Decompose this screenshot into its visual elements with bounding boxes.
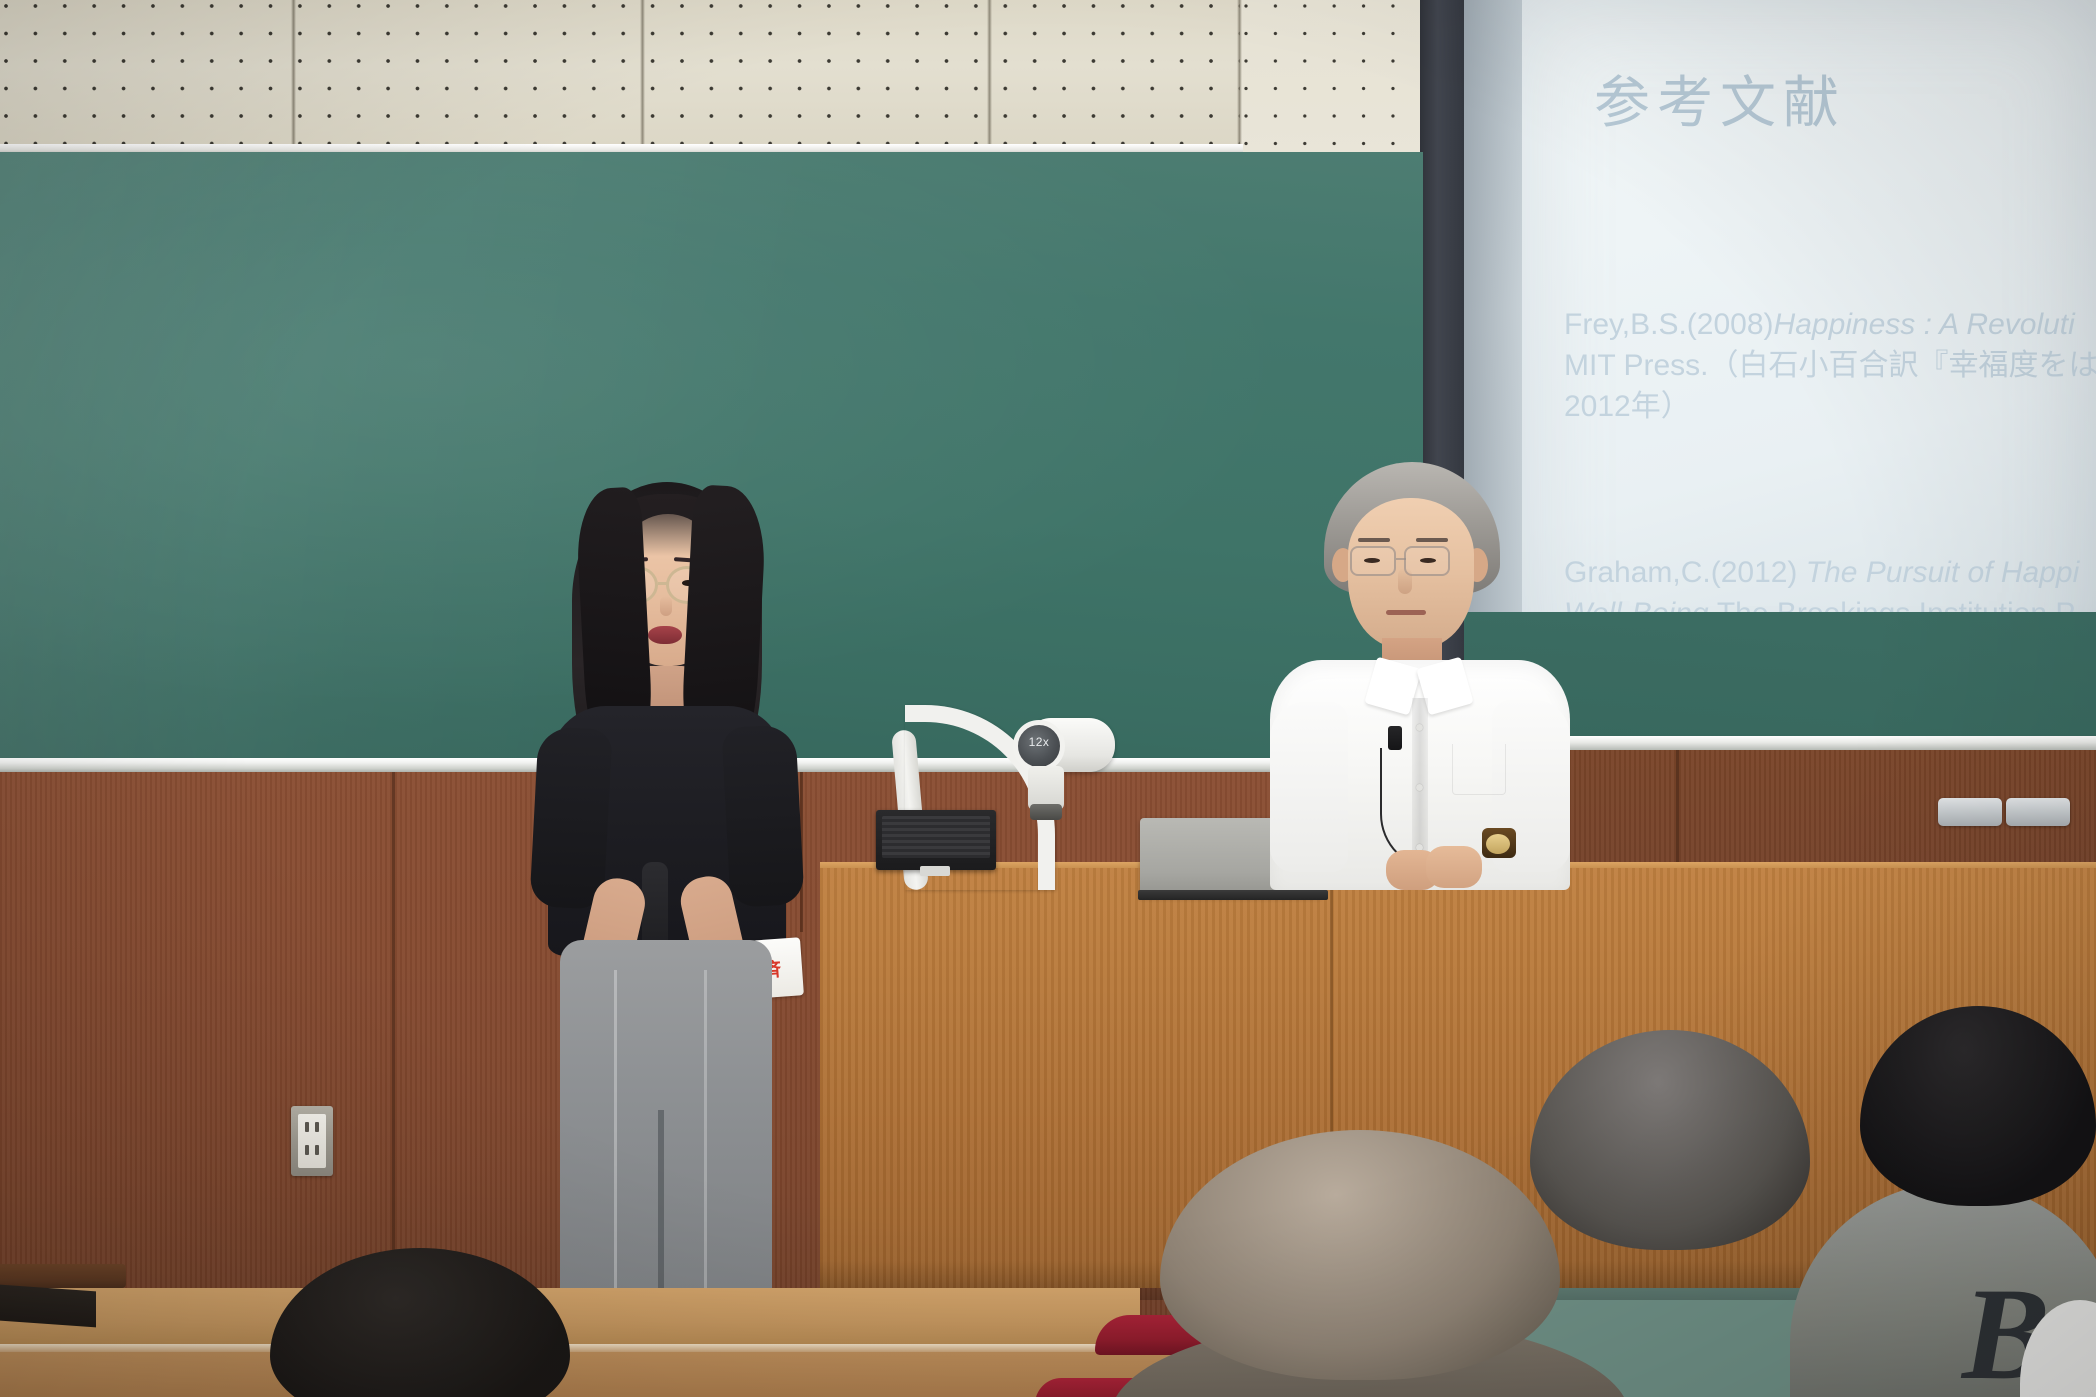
man-eye-left bbox=[1364, 558, 1380, 563]
acoustic-perforated-wall bbox=[0, 0, 1240, 146]
woman-mouth bbox=[648, 626, 682, 644]
audience-head bbox=[1160, 1130, 1560, 1380]
lavalier-microphone bbox=[1388, 726, 1402, 750]
electrical-outlet-face[interactable] bbox=[298, 1114, 326, 1168]
slide-title: 参考文献 bbox=[1594, 58, 1846, 139]
man-wristwatch-face bbox=[1486, 834, 1510, 854]
ref-frey-line1-plain: Frey,B.S.(2008) bbox=[1564, 308, 1774, 341]
laptop-hinge bbox=[1138, 890, 1328, 900]
woman-nose bbox=[660, 596, 672, 616]
trouser-crease-left bbox=[614, 970, 617, 1290]
audience-head bbox=[270, 1248, 570, 1397]
audience-head bbox=[1860, 1006, 2096, 1206]
wall-panel-seam bbox=[1237, 0, 1242, 160]
ref-frey-line2: MIT Press.（白石小百合訳『幸福度をは bbox=[1564, 349, 2096, 382]
man-eye-right bbox=[1420, 558, 1436, 563]
presenter-woman: 経済 bbox=[520, 470, 810, 1300]
man-shirt-pocket bbox=[1452, 744, 1506, 795]
audience-member bbox=[270, 1248, 570, 1397]
wall-panel-seam bbox=[291, 0, 296, 150]
woman-sleeve-left bbox=[529, 726, 612, 910]
ref-frey-line3: 2012年） bbox=[1564, 390, 1691, 423]
outlet-slot bbox=[305, 1145, 309, 1155]
document-camera-zoom-label: 12x bbox=[1021, 735, 1057, 749]
man-mouth bbox=[1386, 610, 1426, 615]
stage-floor-step bbox=[0, 1288, 1140, 1350]
man-hand-right bbox=[1426, 846, 1482, 888]
outlet-slot bbox=[305, 1122, 309, 1132]
side-desk-top bbox=[0, 1264, 126, 1288]
lecture-hall-photo: 参考文献 Frey,B.S.(2008)Happiness : A Revolu… bbox=[0, 0, 2096, 1397]
man-eyeglasses-bridge bbox=[1396, 558, 1406, 560]
outlet-slot bbox=[315, 1122, 319, 1132]
trouser-inseam bbox=[658, 1110, 664, 1300]
shirt-button bbox=[1416, 724, 1423, 731]
light-switch-panel-left[interactable] bbox=[1938, 798, 2002, 826]
document-camera-base bbox=[1030, 804, 1062, 820]
reference-entry-frey: Frey,B.S.(2008)Happiness : A Revoluti MI… bbox=[1564, 304, 2096, 427]
audience-member bbox=[1530, 1030, 1810, 1260]
woman-eyeglasses-bridge bbox=[658, 582, 668, 585]
presenter-man bbox=[1270, 462, 1570, 882]
acoustic-perforated-wall-right bbox=[1240, 0, 1420, 160]
outlet-slot bbox=[315, 1145, 319, 1155]
ref-graham-line1-plain: Graham,C.(2012) bbox=[1564, 556, 1806, 589]
ref-graham-line1-italic: The Pursuit of Happi bbox=[1806, 556, 2079, 589]
man-arm-left bbox=[1270, 702, 1348, 872]
lectern-monitor-stand bbox=[920, 866, 950, 876]
woman-sleeve-right bbox=[721, 724, 804, 908]
audience-head bbox=[1530, 1030, 1810, 1250]
trouser-crease-right bbox=[704, 970, 707, 1290]
side-desk-frame bbox=[0, 1285, 96, 1328]
audience-shoulders bbox=[2020, 1300, 2096, 1397]
man-eyebrow-right bbox=[1416, 538, 1448, 542]
projection-screen: 参考文献 Frey,B.S.(2008)Happiness : A Revolu… bbox=[1522, 0, 2096, 700]
audience-member bbox=[2020, 1300, 2096, 1397]
light-switch-panel-right[interactable] bbox=[2006, 798, 2070, 826]
man-eyebrow-left bbox=[1358, 538, 1390, 542]
wall-panel-seam bbox=[987, 0, 992, 150]
wall-panel-seam bbox=[640, 0, 645, 150]
audience-member bbox=[1150, 1130, 1570, 1397]
ref-frey-line1-italic: Happiness : A Revoluti bbox=[1774, 308, 2075, 341]
lectern-monitor-screen bbox=[882, 816, 990, 858]
man-nose bbox=[1398, 568, 1412, 594]
woman-trousers bbox=[560, 940, 772, 1300]
